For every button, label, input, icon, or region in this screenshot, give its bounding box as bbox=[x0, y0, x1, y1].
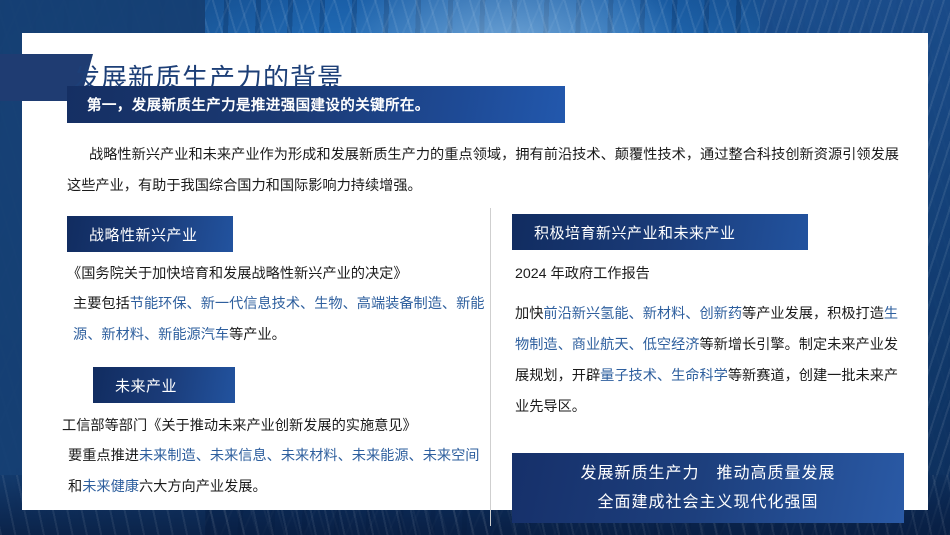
section-banner: 第一，发展新质生产力是推进强国建设的关键所在。 bbox=[67, 86, 565, 123]
chip-future-label: 未来产业 bbox=[93, 375, 199, 396]
left-body-strategic: 主要包括节能环保、新一代信息技术、生物、高端装备制造、新能源、新材料、新能源汽车… bbox=[73, 289, 487, 351]
right-body-prefix: 加快 bbox=[515, 306, 543, 322]
content-card: 发展新质生产力的背景 第一，发展新质生产力是推进强国建设的关键所在。 战略性新兴… bbox=[22, 33, 928, 510]
chip-future-industries: 未来产业 bbox=[93, 367, 235, 403]
slogan-box: 发展新质生产力 推动高质量发展 全面建成社会主义现代化强国 bbox=[512, 453, 904, 523]
intro-paragraph: 战略性新兴产业和未来产业作为形成和发展新质生产力的重点领域，拥有前沿技术、颠覆性… bbox=[67, 140, 899, 202]
left-body-future: 要重点推进未来制造、未来信息、未来材料、未来能源、未来空间和未来健康六大方向产业… bbox=[68, 441, 486, 503]
left-body-strategic-prefix: 主要包括 bbox=[73, 296, 130, 312]
right-report-label: 2024 年政府工作报告 bbox=[515, 259, 895, 290]
chip-cultivate-industries: 积极培育新兴产业和未来产业 bbox=[512, 214, 808, 250]
slogan-line-1: 发展新质生产力 推动高质量发展 bbox=[512, 459, 904, 488]
right-body-highlight-3: 量子技术、生命科学 bbox=[600, 368, 728, 384]
left-body-strategic-suffix: 等产业。 bbox=[229, 327, 286, 343]
chip-strategic-emerging-industries: 战略性新兴产业 bbox=[67, 216, 233, 252]
left-body-future-highlight-2: 未来健康 bbox=[82, 479, 139, 495]
left-body-future-suffix: 六大方向产业发展。 bbox=[139, 479, 267, 495]
left-body-future-mid: 和 bbox=[68, 479, 82, 495]
column-divider bbox=[490, 208, 491, 526]
right-body-highlight-1: 前沿新兴氢能、新材料、创新药 bbox=[543, 306, 742, 322]
slide-root: 发展新质生产力的背景 第一，发展新质生产力是推进强国建设的关键所在。 战略性新兴… bbox=[0, 0, 950, 535]
section-banner-label: 第一，发展新质生产力是推进强国建设的关键所在。 bbox=[67, 94, 430, 115]
chip-cultivate-label: 积极培育新兴产业和未来产业 bbox=[512, 222, 758, 243]
left-document-title-future: 工信部等部门《关于推动未来产业创新发展的实施意见》 bbox=[62, 411, 482, 442]
right-body-paragraph: 加快前沿新兴氢能、新材料、创新药等产业发展，积极打造生物制造、商业航天、低空经济… bbox=[515, 299, 901, 423]
slogan-line-2: 全面建成社会主义现代化强国 bbox=[512, 488, 904, 517]
left-body-future-prefix: 要重点推进 bbox=[68, 448, 139, 464]
chip-strategic-label: 战略性新兴产业 bbox=[67, 224, 220, 245]
left-body-future-highlight-1: 未来制造、未来信息、未来材料、未来能源、未来空间 bbox=[139, 448, 480, 464]
right-body-mid-1: 等产业发展，积极打造 bbox=[742, 306, 884, 322]
left-document-title-strategic: 《国务院关于加快培育和发展战略性新兴产业的决定》 bbox=[67, 259, 471, 290]
